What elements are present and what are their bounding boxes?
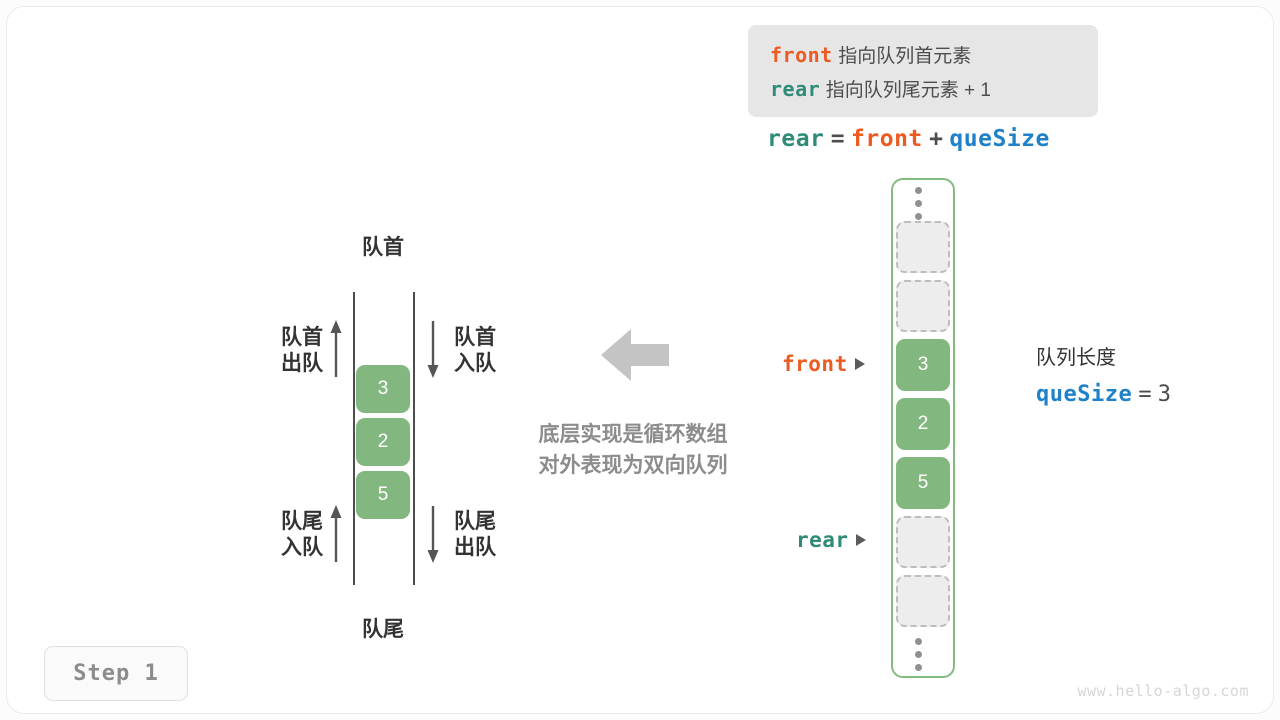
queue-size-title: 队列长度: [1036, 343, 1171, 373]
deque-cell-0: 3: [356, 365, 410, 413]
diagram-root: front 指向队列首元素 rear 指向队列尾元素 + 1 rear = fr…: [0, 0, 1280, 720]
rear-formula: rear = front + queSize: [767, 125, 1050, 152]
legend-row-front: front 指向队列首元素: [770, 38, 1098, 72]
arrow-up-head-dequeue-icon: [330, 320, 342, 378]
array-cell-2: 3: [896, 339, 950, 391]
legend-term-rear: rear: [770, 77, 820, 101]
formula-operand-quesize: queSize: [949, 126, 1049, 152]
formula-operand-front: front: [851, 126, 923, 152]
arrow-up-tail-enqueue-icon: [330, 505, 342, 563]
pointer-legend-box: front 指向队列首元素 rear 指向队列尾元素 + 1: [748, 25, 1098, 117]
deque-cell-0-value: 3: [378, 378, 389, 400]
array-ellipsis-bottom-icon: [915, 638, 923, 677]
deque-op-label-tail-enqueue: 队尾 入队: [257, 509, 323, 561]
deque-op-label-tail-enqueue-line2: 入队: [257, 535, 323, 561]
array-cell-0: [896, 221, 950, 273]
queue-size-note: 队列长度 queSize = 3: [1036, 343, 1171, 412]
array-cell-1: [896, 280, 950, 332]
front-pointer-label: front: [782, 352, 848, 376]
rear-pointer-arrow-icon: [856, 534, 866, 546]
deque-cell-2: 5: [356, 471, 410, 519]
deque-cell-1-value: 2: [378, 431, 389, 453]
deque-cell-2-value: 5: [378, 484, 389, 506]
arrow-down-tail-dequeue-icon: [427, 505, 439, 563]
rear-pointer: rear: [796, 528, 866, 552]
deque-op-label-head-dequeue-line1: 队首: [257, 325, 323, 351]
step-badge: Step 1: [44, 646, 188, 701]
legend-row-rear: rear 指向队列尾元素 + 1: [770, 72, 1098, 106]
legend-desc-rear: 指向队列尾元素 + 1: [826, 80, 991, 101]
deque-op-label-head-enqueue-line1: 队首: [454, 325, 496, 351]
implementation-note-line1: 底层实现是循环数组: [510, 419, 756, 450]
array-cell-4-value: 5: [918, 472, 929, 494]
array-cell-3: 2: [896, 398, 950, 450]
queue-size-equals: =: [1138, 382, 1151, 407]
legend-term-front: front: [770, 43, 833, 67]
mapping-arrow-left-icon: [601, 327, 669, 383]
deque-op-label-head-enqueue: 队首 入队: [454, 325, 496, 377]
arrow-down-head-enqueue-icon: [427, 320, 439, 378]
queue-size-value: 3: [1158, 382, 1172, 407]
deque-op-label-head-enqueue-line2: 入队: [454, 351, 496, 377]
array-cell-3-value: 2: [918, 413, 929, 435]
deque-head-label: 队首: [356, 235, 410, 261]
watermark: www.hello-algo.com: [1077, 682, 1249, 700]
array-cell-2-value: 3: [918, 354, 929, 376]
step-badge-label: Step 1: [73, 661, 158, 686]
deque-op-label-head-dequeue-line2: 出队: [257, 351, 323, 377]
deque-op-label-tail-dequeue-line2: 出队: [454, 535, 496, 561]
deque-op-label-head-dequeue: 队首 出队: [257, 325, 323, 377]
rear-pointer-label: rear: [796, 528, 849, 552]
deque-op-label-tail-enqueue-line1: 队尾: [257, 509, 323, 535]
array-cell-6: [896, 575, 950, 627]
formula-equals: =: [831, 126, 845, 152]
array-cell-4: 5: [896, 457, 950, 509]
formula-plus: +: [929, 126, 943, 152]
queue-size-expression: queSize = 3: [1036, 377, 1171, 412]
implementation-note: 底层实现是循环数组 对外表现为双向队列: [510, 419, 756, 481]
array-cell-5: [896, 516, 950, 568]
implementation-note-line2: 对外表现为双向队列: [510, 450, 756, 481]
legend-desc-front: 指向队列首元素: [838, 46, 971, 67]
deque-op-label-tail-dequeue: 队尾 出队: [454, 509, 496, 561]
front-pointer: front: [782, 352, 865, 376]
diagram-canvas: front 指向队列首元素 rear 指向队列尾元素 + 1 rear = fr…: [6, 6, 1274, 714]
front-pointer-arrow-icon: [855, 358, 865, 370]
queue-size-var: queSize: [1036, 382, 1132, 407]
deque-op-label-tail-dequeue-line1: 队尾: [454, 509, 496, 535]
deque-guide-line-left: [353, 292, 355, 585]
deque-tail-label: 队尾: [356, 617, 410, 643]
deque-guide-line-right: [413, 292, 415, 585]
formula-lhs: rear: [767, 126, 824, 152]
deque-cell-1: 2: [356, 418, 410, 466]
